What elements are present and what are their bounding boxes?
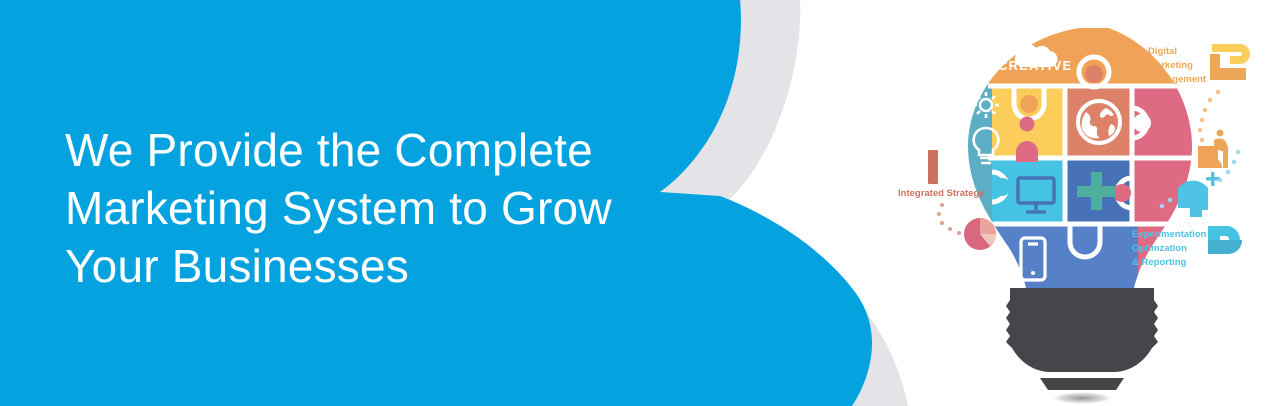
integrated-strategy-label: Integrated Strategy bbox=[898, 188, 985, 199]
dotted-trail-icon bbox=[937, 203, 961, 235]
eor-label-line3: & Reporting bbox=[1132, 257, 1187, 268]
creative-label: CREATIVE bbox=[998, 58, 1072, 73]
eor-label-line2: Optimzation bbox=[1132, 243, 1187, 254]
abstract-curve-icon bbox=[1208, 226, 1242, 254]
eor-label-line1: Experimentation bbox=[1132, 229, 1207, 240]
person-at-desk-icon bbox=[1198, 130, 1228, 169]
illustration-svg: CREATIVE bbox=[880, 0, 1280, 406]
abstract-curve-icon bbox=[1210, 44, 1250, 80]
bulb-screw-base bbox=[1006, 288, 1158, 390]
dmm-label-line1: Digital bbox=[1148, 46, 1177, 57]
dmm-label-line3: Management bbox=[1148, 74, 1207, 85]
hero-banner: We Provide the Complete Marketing System… bbox=[0, 0, 1280, 406]
dmm-label-line2: Marketing bbox=[1148, 60, 1193, 71]
lightbulb-puzzle-infographic: CREATIVE bbox=[880, 0, 1280, 406]
bulb-ground-shadow bbox=[1052, 392, 1112, 404]
page-title: We Provide the Complete Marketing System… bbox=[65, 121, 665, 295]
pie-chart-icon bbox=[964, 218, 996, 250]
bar-marker-icon bbox=[928, 150, 938, 184]
